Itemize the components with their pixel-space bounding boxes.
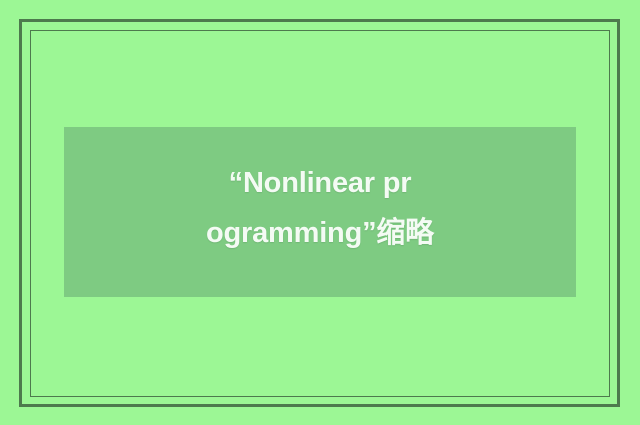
image-canvas: “Nonlinear pr ogramming”缩略 xyxy=(0,0,640,425)
caption-line-1: “Nonlinear pr xyxy=(229,158,412,208)
caption-line-2: ogramming”缩略 xyxy=(206,208,434,258)
caption-overlay-panel: “Nonlinear pr ogramming”缩略 xyxy=(64,127,576,297)
